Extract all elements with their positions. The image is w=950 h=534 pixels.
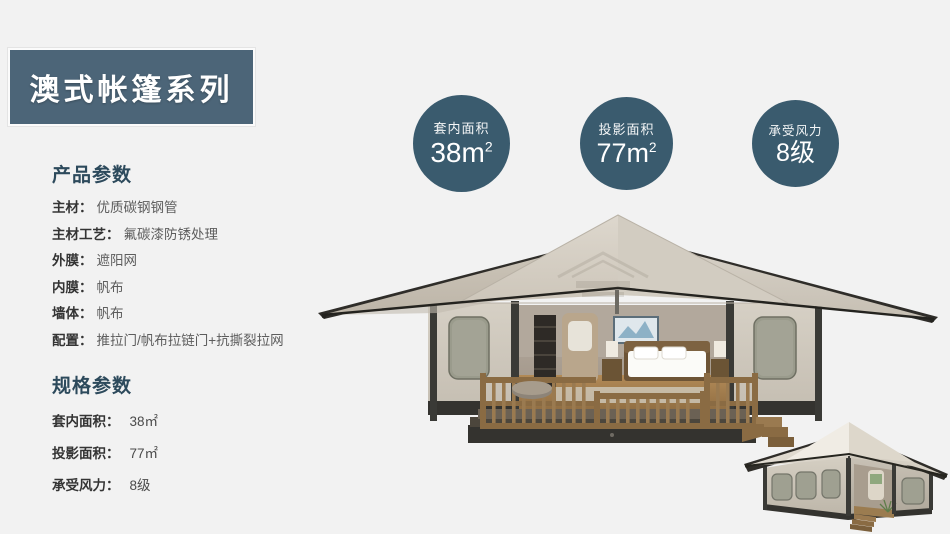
- spec-params-section: 规格参数 套内面积： 38㎡ 投影面积： 77㎡ 承受风力： 8级: [0, 371, 350, 494]
- spec-params-heading: 规格参数: [52, 371, 350, 398]
- product-params-list: 主材： 优质碳钢钢管 主材工艺： 氟碳漆防锈处理 外膜： 遮阳网 内膜： 帆布 …: [0, 199, 350, 349]
- spec-value: 77㎡: [130, 442, 159, 462]
- stat-value: 38m2: [430, 138, 492, 169]
- param-row: 内膜： 帆布: [52, 279, 350, 297]
- product-params-heading: 产品参数: [52, 160, 350, 187]
- spec-params-list: 套内面积： 38㎡ 投影面积： 77㎡ 承受风力： 8级: [0, 410, 350, 494]
- stat-badge-wind-resistance: 承受风力 8级: [752, 100, 839, 187]
- param-value: 帆布: [97, 305, 124, 323]
- param-label: 配置：: [52, 332, 93, 350]
- stat-caption: 承受风力: [768, 120, 822, 139]
- tent-front-illustration: [318, 195, 938, 455]
- spec-label: 承受风力：: [52, 474, 120, 494]
- tent-secondary-image: [742, 418, 950, 534]
- stat-value: 8级: [776, 140, 815, 168]
- param-value: 推拉门/帆布拉链门+抗撕裂拉网: [97, 332, 284, 350]
- spec-label: 投影面积：: [52, 442, 120, 462]
- spec-value: 38㎡: [130, 410, 159, 430]
- param-row: 外膜： 遮阳网: [52, 252, 350, 270]
- param-label: 外膜：: [52, 252, 93, 270]
- slide-canvas: 澳式帐篷系列 产品参数 主材： 优质碳钢钢管 主材工艺： 氟碳漆防锈处理 外膜：…: [0, 0, 950, 534]
- spec-label: 套内面积：: [52, 410, 120, 430]
- spec-row: 承受风力： 8级: [52, 474, 350, 494]
- tent-angle-illustration: [742, 418, 950, 534]
- stat-caption: 投影面积: [598, 119, 654, 138]
- spec-row: 投影面积： 77㎡: [52, 442, 350, 462]
- param-value: 帆布: [97, 279, 124, 297]
- spec-row: 套内面积： 38㎡: [52, 410, 350, 430]
- param-label: 主材工艺：: [52, 226, 120, 244]
- param-value: 氟碳漆防锈处理: [124, 226, 219, 244]
- param-label: 内膜：: [52, 279, 93, 297]
- stat-badge-projected-area: 投影面积 77m2: [580, 97, 673, 190]
- stat-badge-interior-area: 套内面积 38m2: [413, 95, 510, 192]
- param-label: 墙体：: [52, 305, 93, 323]
- param-value: 优质碳钢钢管: [97, 199, 178, 217]
- param-value: 遮阳网: [97, 252, 138, 270]
- stat-caption: 套内面积: [433, 118, 489, 137]
- param-label: 主材：: [52, 199, 93, 217]
- spec-value: 8级: [130, 474, 151, 494]
- title-banner: 澳式帐篷系列: [8, 48, 255, 126]
- param-row: 主材： 优质碳钢钢管: [52, 199, 350, 217]
- product-params-section: 产品参数 主材： 优质碳钢钢管 主材工艺： 氟碳漆防锈处理 外膜： 遮阳网 内膜…: [0, 160, 350, 349]
- param-row: 主材工艺： 氟碳漆防锈处理: [52, 226, 350, 244]
- spec-panel: 产品参数 主材： 优质碳钢钢管 主材工艺： 氟碳漆防锈处理 外膜： 遮阳网 内膜…: [0, 160, 350, 506]
- tent-main-image: [318, 195, 938, 455]
- page-title: 澳式帐篷系列: [30, 65, 234, 109]
- stat-value: 77m2: [596, 139, 656, 169]
- param-row: 配置： 推拉门/帆布拉链门+抗撕裂拉网: [52, 332, 350, 350]
- param-row: 墙体： 帆布: [52, 305, 350, 323]
